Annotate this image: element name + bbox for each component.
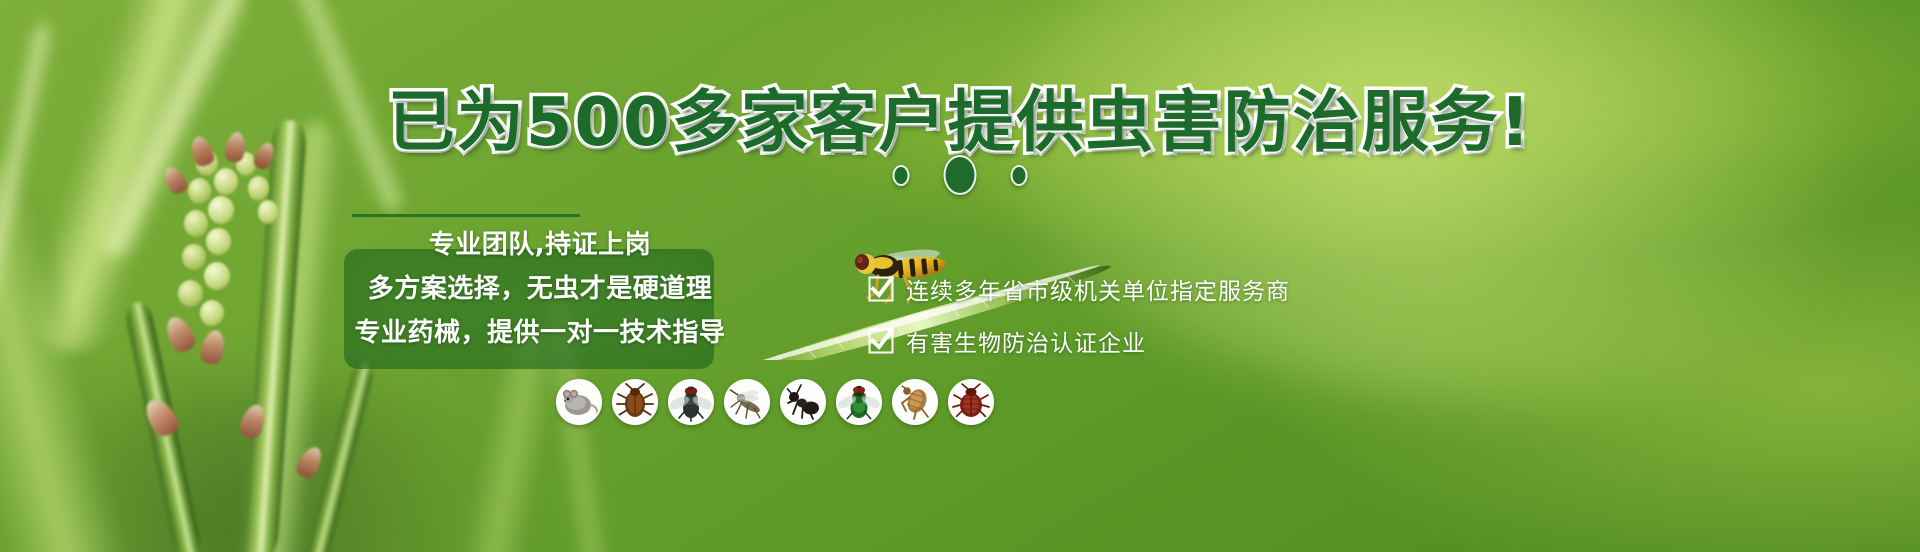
feature-line-1: 专业团队,持证上岗 xyxy=(429,224,651,261)
list-item: 连续多年省市级机关单位指定服务商 xyxy=(868,272,1290,306)
pest-control-banner: 已为500多家客户提供虫害防治服务! 专业团队,持证上岗 多方案选择，无虫才是硬… xyxy=(0,0,1920,552)
page-title: 已为500多家客户提供虫害防治服务! xyxy=(0,68,1920,165)
flea-icon[interactable] xyxy=(892,379,938,425)
ant-icon[interactable] xyxy=(780,379,826,425)
credential-list: 连续多年省市级机关单位指定服务商 有害生物防治认证企业 xyxy=(868,272,1290,358)
housefly-icon[interactable] xyxy=(668,379,714,425)
decor-dot-left xyxy=(893,165,910,186)
pest-icon-row xyxy=(556,379,994,425)
cockroach-icon[interactable] xyxy=(612,379,658,425)
checkbox-checked-icon xyxy=(868,276,894,302)
mouse-icon[interactable] xyxy=(556,379,602,425)
headline-text: 已为500多家客户提供虫害防治服务! xyxy=(388,83,1532,161)
credential-text: 有害生物防治认证企业 xyxy=(906,324,1146,358)
checkbox-checked-icon xyxy=(868,328,894,354)
feature-line-3: 专业药械，提供一对一技术指导 xyxy=(354,312,725,349)
mosquito-icon[interactable] xyxy=(724,379,770,425)
bedbug-icon[interactable] xyxy=(948,379,994,425)
decor-dot-right xyxy=(1011,165,1028,186)
feature-line-2: 多方案选择，无虫才是硬道理 xyxy=(368,268,713,305)
greenfly-icon[interactable] xyxy=(836,379,882,425)
decor-dots xyxy=(893,155,1028,195)
credential-text: 连续多年省市级机关单位指定服务商 xyxy=(906,272,1290,306)
list-item: 有害生物防治认证企业 xyxy=(868,324,1290,358)
feature-callout-text: 专业团队,持证上岗 多方案选择，无虫才是硬道理 专业药械，提供一对一技术指导 xyxy=(330,210,750,349)
decor-dot-center xyxy=(944,155,977,195)
